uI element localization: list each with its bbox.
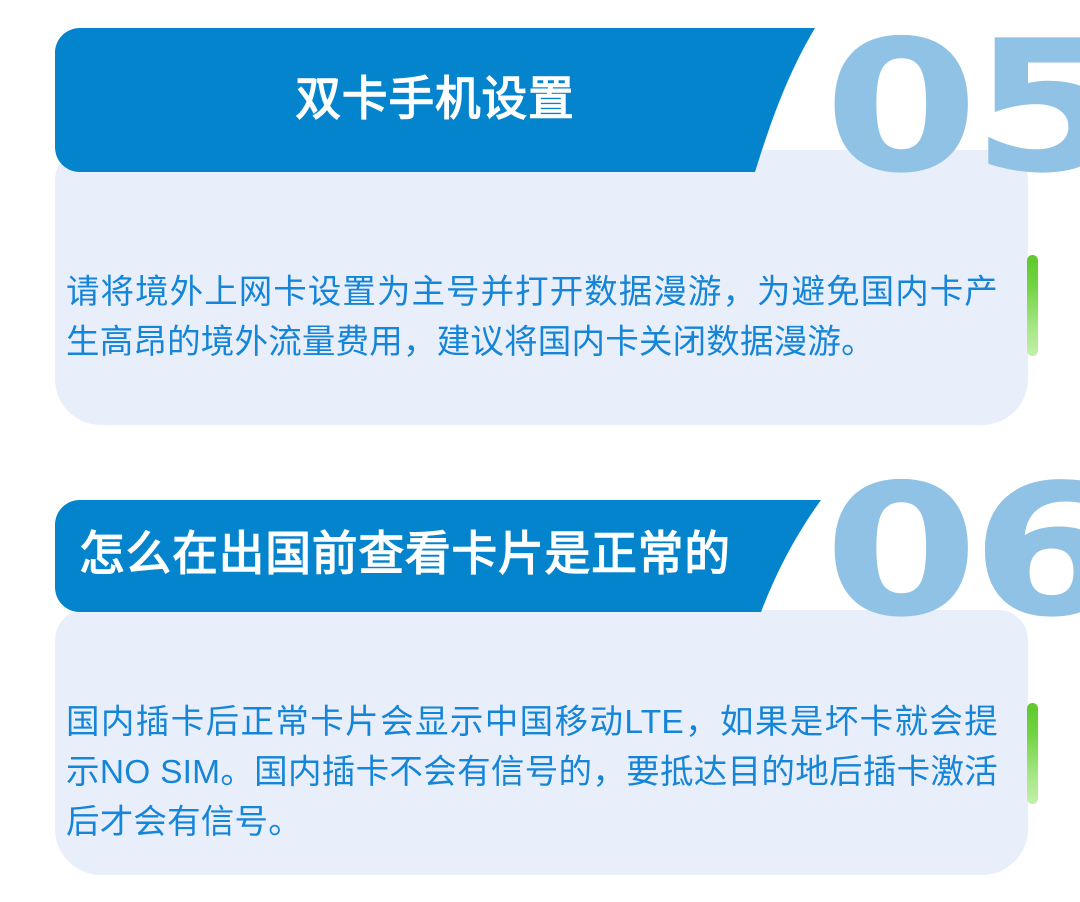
- green-accent-bar: [1027, 255, 1038, 356]
- card-body-text: 请将境外上网卡设置为主号并打开数据漫游，为避免国内卡产生高昂的境外流量费用，建议…: [66, 268, 998, 368]
- card-number-badge: 06: [824, 460, 1080, 642]
- card-header-banner: 怎么在出国前查看卡片是正常的: [55, 500, 855, 612]
- faq-card-06: 06 怎么在出国前查看卡片是正常的 国内插卡后正常卡片会显示中国移动LTE，如果…: [0, 472, 1080, 902]
- card-header-banner: 双卡手机设置: [55, 28, 855, 172]
- faq-card-05: 05 双卡手机设置 请将境外上网卡设置为主号并打开数据漫游，为避免国内卡产生高昂…: [0, 0, 1080, 470]
- card-number-badge: 05: [824, 16, 1080, 198]
- card-title: 怎么在出国前查看卡片是正常的: [79, 530, 731, 577]
- green-accent-bar: [1027, 703, 1038, 804]
- card-title: 双卡手机设置: [66, 75, 803, 122]
- faq-page: { "page": { "background_color": "#ffffff…: [0, 0, 1080, 902]
- card-body-text: 国内插卡后正常卡片会显示中国移动LTE，如果是坏卡就会提示NO SIM。国内插卡…: [66, 698, 998, 848]
